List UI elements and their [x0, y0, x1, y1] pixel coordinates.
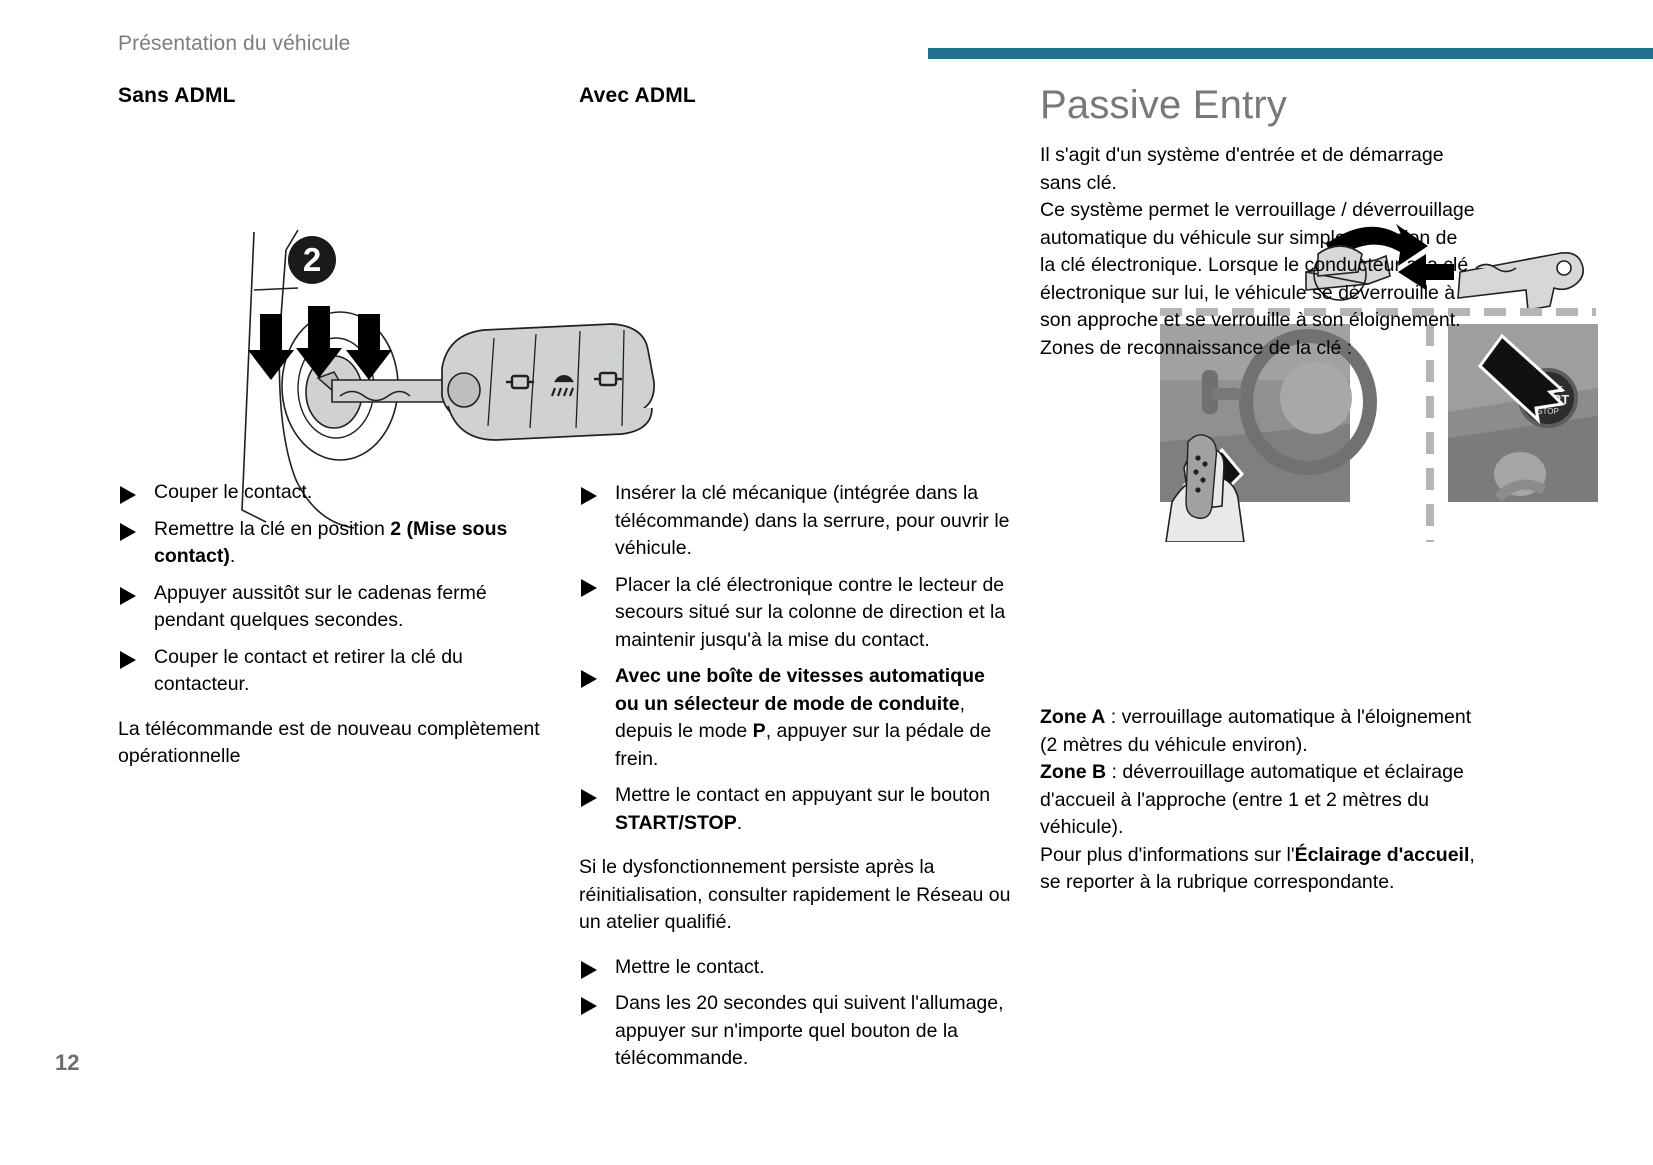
- list-item: Mettre le contact en appuyant sur le bou…: [579, 782, 1011, 837]
- list-item-text: Mettre le contact.: [615, 956, 765, 978]
- welcome-lighting-reference: Pour plus d'informations sur l'Éclairage…: [1040, 842, 1476, 897]
- left-column: Sans ADML: [118, 84, 548, 122]
- bullet-triangle-icon: [120, 651, 136, 669]
- bullet-triangle-icon: [120, 523, 136, 541]
- callout-badge-2: 2: [288, 236, 336, 284]
- header-rule: [928, 48, 1653, 59]
- bullet-triangle-icon: [120, 486, 136, 504]
- callout-badge-2-label: 2: [303, 241, 321, 278]
- left-column-bullets: Couper le contact. Remettre la clé en po…: [118, 479, 548, 699]
- zone-b-description: Zone B : déverrouillage automatique et é…: [1040, 759, 1476, 842]
- left-column-title: Sans ADML: [118, 84, 548, 108]
- list-item-text: Mettre le contact en appuyant sur le bou…: [615, 784, 990, 834]
- list-item-text: Couper le contact et retirer la clé du c…: [154, 646, 463, 696]
- list-item: Insérer la clé mécanique (intégrée dans …: [579, 480, 1011, 563]
- intro-paragraph: Il s'agit d'un système d'entrée et de dé…: [1040, 142, 1476, 362]
- list-item-text: Appuyer aussitôt sur le cadenas fermé pe…: [154, 582, 487, 632]
- list-item-text: Avec une boîte de vitesses automatique o…: [615, 665, 991, 770]
- middle-column-title: Avec ADML: [579, 84, 1011, 108]
- list-item: Couper le contact et retirer la clé du c…: [118, 644, 548, 699]
- middle-column-bullets-top: Insérer la clé mécanique (intégrée dans …: [579, 480, 1011, 837]
- middle-column-paragraph: Si le dysfonctionnement persiste après l…: [579, 854, 1011, 937]
- running-head: Présentation du véhicule: [118, 32, 350, 56]
- right-column: Passive Entry Il s'agit d'un système d'e…: [1040, 84, 1476, 379]
- left-column-paragraph: La télécommande est de nouveau complètem…: [118, 716, 548, 771]
- bullet-triangle-icon: [581, 789, 597, 807]
- bullet-triangle-icon: [581, 997, 597, 1015]
- list-item: Placer la clé électronique contre le lec…: [579, 572, 1011, 655]
- page-number: 12: [55, 1050, 79, 1076]
- middle-column: Avec ADML: [579, 84, 1011, 122]
- middle-column-bullets-bottom: Mettre le contact. Dans les 20 secondes …: [579, 954, 1011, 1073]
- list-item-text: Couper le contact.: [154, 481, 312, 503]
- list-item-text: Dans les 20 secondes qui suivent l'allum…: [615, 992, 1004, 1069]
- list-item-text: Placer la clé électronique contre le lec…: [615, 574, 1005, 651]
- bullet-triangle-icon: [581, 961, 597, 979]
- list-item: Dans les 20 secondes qui suivent l'allum…: [579, 990, 1011, 1073]
- press-arrows-icon: [248, 306, 392, 380]
- list-item: Appuyer aussitôt sur le cadenas fermé pe…: [118, 580, 548, 635]
- zone-a-description: Zone A : verrouillage automatique à l'él…: [1040, 704, 1476, 759]
- bullet-triangle-icon: [581, 579, 597, 597]
- bullet-triangle-icon: [581, 487, 597, 505]
- list-item: Remettre la clé en position 2 (Mise sous…: [118, 516, 548, 571]
- list-item: Mettre le contact.: [579, 954, 1011, 982]
- list-item: Couper le contact.: [118, 479, 548, 507]
- list-item-text: Remettre la clé en position 2 (Mise sous…: [154, 518, 507, 568]
- bullet-triangle-icon: [120, 587, 136, 605]
- list-item-text: Insérer la clé mécanique (intégrée dans …: [615, 482, 1010, 559]
- page-title: Passive Entry: [1040, 84, 1476, 126]
- bullet-triangle-icon: [581, 670, 597, 688]
- list-item: Avec une boîte de vitesses automatique o…: [579, 663, 1011, 773]
